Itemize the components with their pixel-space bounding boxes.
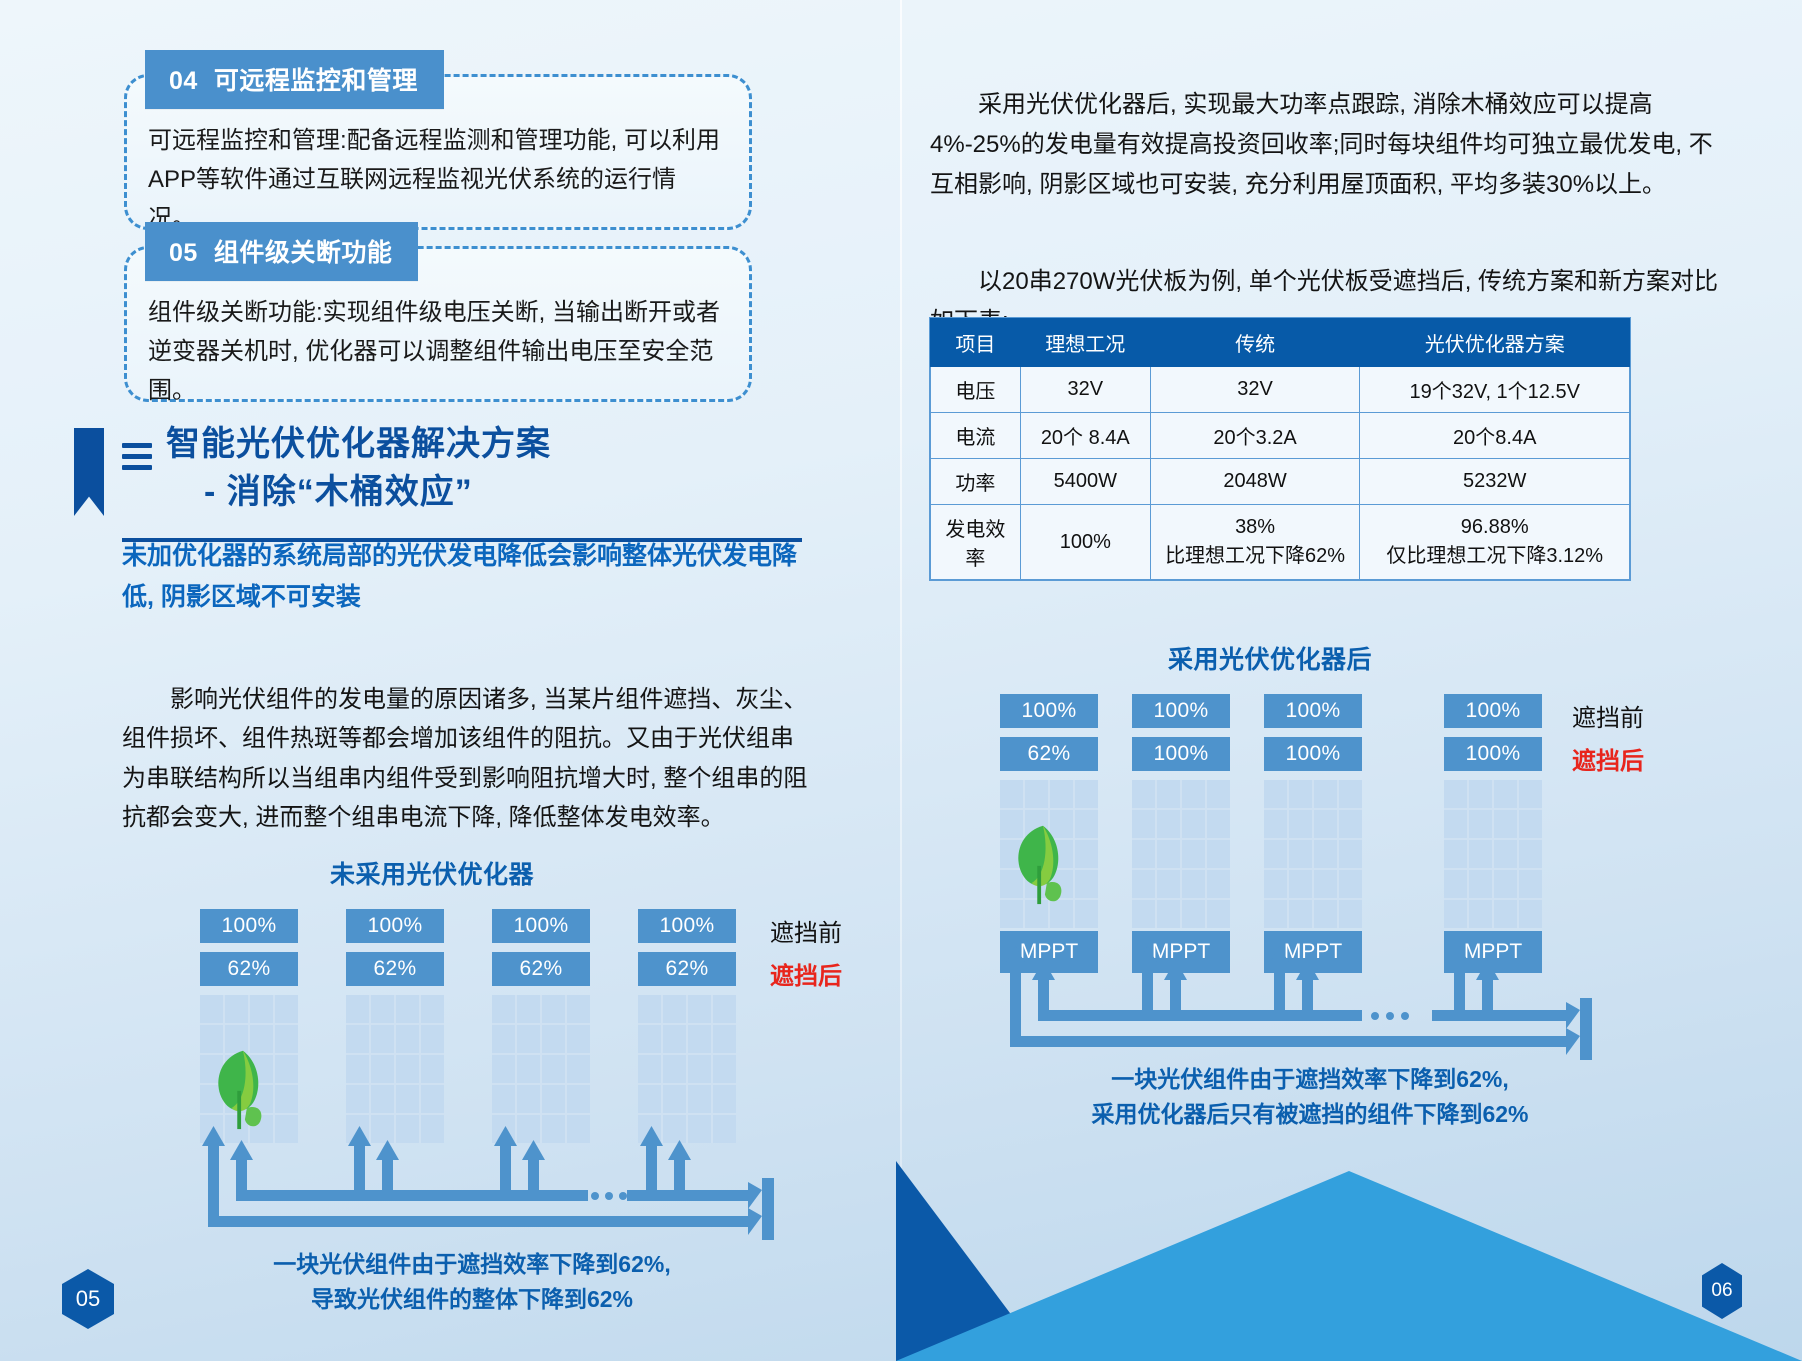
diagram-caption: 一块光伏组件由于遮挡效率下降到62%, 采用优化器后只有被遮挡的组件下降到62% bbox=[960, 1062, 1660, 1131]
chip-after: 62% bbox=[200, 952, 298, 986]
diagram-caption: 一块光伏组件由于遮挡效率下降到62%, 导致光伏组件的整体下降到62% bbox=[122, 1247, 822, 1316]
table-header-row: 项目 理想工况 传统 光伏优化器方案 bbox=[931, 319, 1630, 367]
cell-item: 电压 bbox=[931, 367, 1021, 413]
diagram-without-optimizer: 未采用光伏优化器 100% 62% bbox=[122, 855, 822, 1199]
left-column: 04可远程监控和管理 可远程监控和管理:配备远程监测和管理功能, 可以利用APP… bbox=[74, 0, 864, 1361]
string-wiring-diagram bbox=[960, 940, 1660, 1060]
string-wiring-diagram bbox=[122, 1120, 822, 1240]
panel-column: 100% 100% MPPT bbox=[1132, 694, 1230, 973]
cell-trad-note: 比理想工况下降62% bbox=[1157, 539, 1354, 568]
cell-ideal: 5400W bbox=[1020, 459, 1150, 505]
chip-before: 100% bbox=[1264, 694, 1362, 728]
panel-column: 100% 100% MPPT bbox=[1264, 694, 1362, 973]
diagram-with-optimizer: 采用光伏优化器后 100% 62% bbox=[960, 640, 1660, 1024]
table-header-item: 项目 bbox=[931, 319, 1021, 367]
cell-trad: 38% 比理想工况下降62% bbox=[1150, 505, 1360, 580]
feature-card-number: 04 bbox=[169, 67, 198, 95]
legend-before: 遮挡前 bbox=[770, 913, 920, 948]
diagram-title: 采用光伏优化器后 bbox=[960, 640, 1580, 676]
right-column: 采用光伏优化器后, 实现最大功率点跟踪, 消除木桶效应可以提高4%-25%的发电… bbox=[930, 0, 1730, 1361]
chip-before: 100% bbox=[492, 909, 590, 943]
cell-trad: 20个3.2A bbox=[1150, 413, 1360, 459]
section-paragraph: 影响光伏组件的发电量的原因诸多, 当某片组件遮挡、灰尘、组件损坏、组件热斑等都会… bbox=[122, 680, 812, 837]
diagram-title: 未采用光伏优化器 bbox=[122, 855, 742, 891]
solar-panel-cells bbox=[1444, 780, 1542, 928]
feature-card-05: 05组件级关断功能 组件级关断功能:实现组件级电压关断, 当输出断开或者逆变器关… bbox=[100, 222, 770, 402]
panel-column: 100% 62% bbox=[200, 909, 298, 1143]
cell-ideal: 100% bbox=[1020, 505, 1150, 580]
page-spine bbox=[900, 0, 902, 1361]
table-header-ideal: 理想工况 bbox=[1020, 319, 1150, 367]
cell-opt-value: 96.88% bbox=[1366, 516, 1623, 539]
diagram-caption-line1: 一块光伏组件由于遮挡效率下降到62%, bbox=[960, 1062, 1660, 1097]
chip-before: 100% bbox=[1132, 694, 1230, 728]
table-row: 电压 32V 32V 19个32V, 1个12.5V bbox=[931, 367, 1630, 413]
section-heading: 智能光伏优化器解决方案 - 消除“木桶效应” bbox=[74, 420, 864, 517]
brochure-page: 04可远程监控和管理 可远程监控和管理:配备远程监测和管理功能, 可以利用APP… bbox=[0, 0, 1802, 1361]
panel-column: 100% 100% MPPT bbox=[1444, 694, 1542, 973]
cell-ideal: 32V bbox=[1020, 367, 1150, 413]
chip-after: 62% bbox=[638, 952, 736, 986]
chip-before: 100% bbox=[1000, 694, 1098, 728]
cell-opt: 5232W bbox=[1360, 459, 1630, 505]
cell-trad: 32V bbox=[1150, 367, 1360, 413]
diagram-caption-line1: 一块光伏组件由于遮挡效率下降到62%, bbox=[122, 1247, 822, 1282]
feature-card-header: 05组件级关断功能 bbox=[145, 222, 418, 281]
feature-card-title: 可远程监控和管理 bbox=[214, 67, 418, 95]
panel-column: 100% 62% bbox=[346, 909, 444, 1143]
feature-card-body: 组件级关断功能:实现组件级电压关断, 当输出断开或者逆变器关机时, 优化器可以调… bbox=[148, 294, 722, 411]
diagram-caption-line2: 采用优化器后只有被遮挡的组件下降到62% bbox=[960, 1097, 1660, 1132]
cell-ideal: 20个 8.4A bbox=[1020, 413, 1150, 459]
cell-opt: 96.88% 仅比理想工况下降3.12% bbox=[1360, 505, 1630, 580]
table-row: 电流 20个 8.4A 20个3.2A 20个8.4A bbox=[931, 413, 1630, 459]
solar-panel-cells bbox=[1264, 780, 1362, 928]
feature-card-number: 05 bbox=[169, 239, 198, 267]
table-header-opt: 光伏优化器方案 bbox=[1360, 319, 1630, 367]
cell-item: 功率 bbox=[931, 459, 1021, 505]
chip-before: 100% bbox=[346, 909, 444, 943]
chip-after: 100% bbox=[1264, 737, 1362, 771]
panel-column: 100% 62% bbox=[638, 909, 736, 1143]
solar-panel-cells bbox=[1000, 780, 1098, 928]
table-row: 发电效率 100% 38% 比理想工况下降62% 96.88% 仅比理想工况下降… bbox=[931, 505, 1630, 580]
legend-after: 遮挡后 bbox=[1572, 741, 1722, 776]
solar-panel-cells bbox=[1132, 780, 1230, 928]
section-title-line2: - 消除“木桶效应” bbox=[204, 468, 864, 516]
cell-item: 电流 bbox=[931, 413, 1021, 459]
section-title-line1: 智能光伏优化器解决方案 bbox=[166, 425, 551, 463]
panel-column: 100% 62% MPPT bbox=[1000, 694, 1098, 973]
chip-before: 100% bbox=[200, 909, 298, 943]
comparison-table: 项目 理想工况 传统 光伏优化器方案 电压 32V 32V 19个32V, 1个… bbox=[930, 318, 1630, 580]
chip-after: 62% bbox=[492, 952, 590, 986]
chip-after: 62% bbox=[346, 952, 444, 986]
section-tab-marker bbox=[74, 428, 104, 516]
cell-opt: 20个8.4A bbox=[1360, 413, 1630, 459]
chip-after: 100% bbox=[1132, 737, 1230, 771]
legend-before: 遮挡前 bbox=[1572, 698, 1722, 733]
legend-after: 遮挡后 bbox=[770, 956, 920, 991]
chip-after: 62% bbox=[1000, 737, 1098, 771]
cell-item: 发电效率 bbox=[931, 505, 1021, 580]
table-row: 功率 5400W 2048W 5232W bbox=[931, 459, 1630, 505]
chip-before: 100% bbox=[1444, 694, 1542, 728]
table-header-trad: 传统 bbox=[1150, 319, 1360, 367]
cell-trad-value: 38% bbox=[1157, 516, 1354, 539]
feature-card-header: 04可远程监控和管理 bbox=[145, 50, 444, 109]
feature-card-title: 组件级关断功能 bbox=[214, 239, 393, 267]
panel-column: 100% 62% bbox=[492, 909, 590, 1143]
chip-before: 100% bbox=[638, 909, 736, 943]
page-title: 智能光伏优化器解决方案 - 消除“木桶效应” bbox=[166, 420, 864, 517]
cell-trad: 2048W bbox=[1150, 459, 1360, 505]
section-lead-text: 未加优化器的系统局部的光伏发电降低会影响整体光伏发电降低, 阴影区域不可安装 bbox=[122, 536, 812, 617]
chip-after: 100% bbox=[1444, 737, 1542, 771]
hamburger-icon bbox=[122, 443, 152, 476]
feature-card-04: 04可远程监控和管理 可远程监控和管理:配备远程监测和管理功能, 可以利用APP… bbox=[100, 50, 770, 230]
cell-opt: 19个32V, 1个12.5V bbox=[1360, 367, 1630, 413]
cell-opt-note: 仅比理想工况下降3.12% bbox=[1366, 539, 1623, 568]
diagram-caption-line2: 导致光伏组件的整体下降到62% bbox=[122, 1282, 822, 1317]
right-paragraph-1: 采用光伏优化器后, 实现最大功率点跟踪, 消除木桶效应可以提高4%-25%的发电… bbox=[930, 85, 1730, 204]
